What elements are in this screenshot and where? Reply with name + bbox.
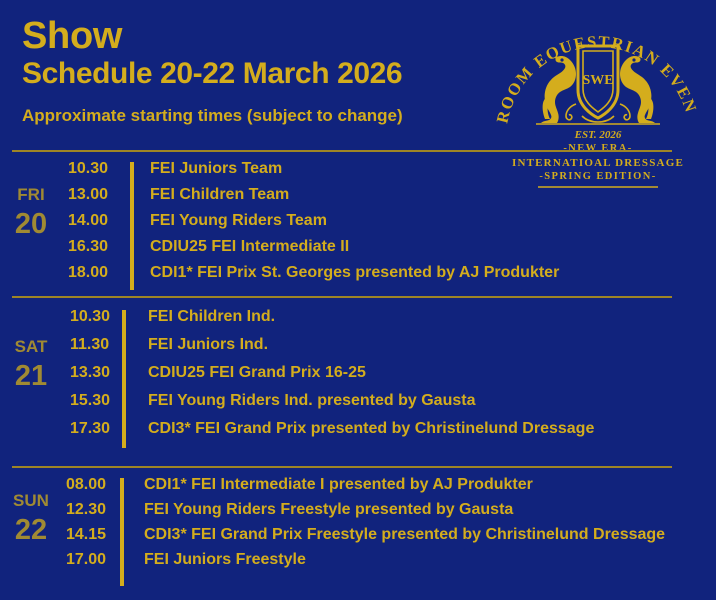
section-divider-friday-saturday (12, 296, 672, 298)
logo-arc-text: DROOM EQUESTRIAN EVENTS (492, 8, 701, 125)
section-divider-saturday-sunday (12, 466, 672, 468)
day-block-friday: FRI 20 10.30 FEI Juniors Team 13.00 FEI … (0, 160, 716, 290)
logo-new-era-text: -NEW ERA- (563, 143, 632, 154)
poster-header: Show Schedule 20-22 March 2026 Approxima… (22, 16, 492, 126)
row-event: FEI Young Riders Freestyle presented by … (144, 501, 513, 519)
row-time: 11.30 (70, 336, 132, 354)
row-event: FEI Juniors Freestyle (144, 551, 306, 569)
day-block-sunday: SUN 22 08.00 CDI1* FEI Intermediate I pr… (0, 476, 716, 576)
row-time: 15.30 (70, 392, 132, 410)
table-row: 16.30 CDIU25 FEI Intermediate II (0, 238, 716, 264)
table-row: 17.00 FEI Juniors Freestyle (0, 551, 716, 576)
table-row: 17.30 CDI3* FEI Grand Prix presented by … (0, 420, 716, 448)
row-event: FEI Children Team (150, 186, 289, 204)
section-divider-top (12, 150, 672, 152)
row-time: 16.30 (68, 238, 134, 256)
row-time: 13.00 (68, 186, 134, 204)
row-time: 13.30 (70, 364, 132, 382)
row-event: FEI Juniors Ind. (148, 336, 268, 354)
row-time: 17.00 (66, 551, 130, 569)
page-title-line2: Schedule 20-22 March 2026 (22, 57, 492, 92)
table-row: 15.30 FEI Young Riders Ind. presented by… (0, 392, 716, 420)
shield-text: SWE (582, 73, 613, 88)
shield-emblem: SWE (578, 46, 618, 118)
row-event: CDIU25 FEI Intermediate II (150, 238, 349, 256)
table-row: 12.30 FEI Young Riders Freestyle present… (0, 501, 716, 526)
page-title-line1: Show (22, 16, 492, 57)
table-row: 08.00 CDI1* FEI Intermediate I presented… (0, 476, 716, 501)
row-time: 12.30 (66, 501, 130, 519)
row-time: 18.00 (68, 264, 134, 282)
row-event: FEI Young Riders Team (150, 212, 327, 230)
page-subtitle: Approximate starting times (subject to c… (22, 106, 492, 126)
table-row: 13.30 CDIU25 FEI Grand Prix 16-25 (0, 364, 716, 392)
table-row: 14.00 FEI Young Riders Team (0, 212, 716, 238)
row-time: 10.30 (70, 308, 132, 326)
row-time: 08.00 (66, 476, 130, 494)
row-event: CDIU25 FEI Grand Prix 16-25 (148, 364, 366, 382)
table-row: 11.30 FEI Juniors Ind. (0, 336, 716, 364)
row-event: CDI1* FEI Intermediate I presented by AJ… (144, 476, 533, 494)
day-block-saturday: SAT 21 10.30 FEI Children Ind. 11.30 FEI… (0, 308, 716, 448)
row-time: 14.00 (68, 212, 134, 230)
show-schedule-poster: Show Schedule 20-22 March 2026 Approxima… (0, 0, 716, 600)
row-event: CDI3* FEI Grand Prix Freestyle presented… (144, 526, 665, 544)
table-row: 10.30 FEI Children Ind. (0, 308, 716, 336)
svg-text:DROOM EQUESTRIAN EVENTS: DROOM EQUESTRIAN EVENTS (492, 8, 701, 125)
row-event: FEI Children Ind. (148, 308, 275, 326)
logo-est-text: EST. 2026 (574, 129, 622, 141)
row-time: 17.30 (70, 420, 132, 438)
row-event: FEI Juniors Team (150, 160, 282, 178)
row-time: 10.30 (68, 160, 134, 178)
schedule-rows-friday: 10.30 FEI Juniors Team 13.00 FEI Childre… (0, 160, 716, 290)
table-row: 13.00 FEI Children Team (0, 186, 716, 212)
schedule-rows-sunday: 08.00 CDI1* FEI Intermediate I presented… (0, 476, 716, 576)
schedule-rows-saturday: 10.30 FEI Children Ind. 11.30 FEI Junior… (0, 308, 716, 448)
droom-equestrian-events-logo: DROOM EQUESTRIAN EVENTS (492, 8, 704, 160)
row-time: 14.15 (66, 526, 130, 544)
row-event: CDI1* FEI Prix St. Georges presented by … (150, 264, 559, 282)
row-event: CDI3* FEI Grand Prix presented by Christ… (148, 420, 594, 438)
table-row: 14.15 CDI3* FEI Grand Prix Freestyle pre… (0, 526, 716, 551)
table-row: 10.30 FEI Juniors Team (0, 160, 716, 186)
table-row: 18.00 CDI1* FEI Prix St. Georges present… (0, 264, 716, 290)
row-event: FEI Young Riders Ind. presented by Gaust… (148, 392, 475, 410)
